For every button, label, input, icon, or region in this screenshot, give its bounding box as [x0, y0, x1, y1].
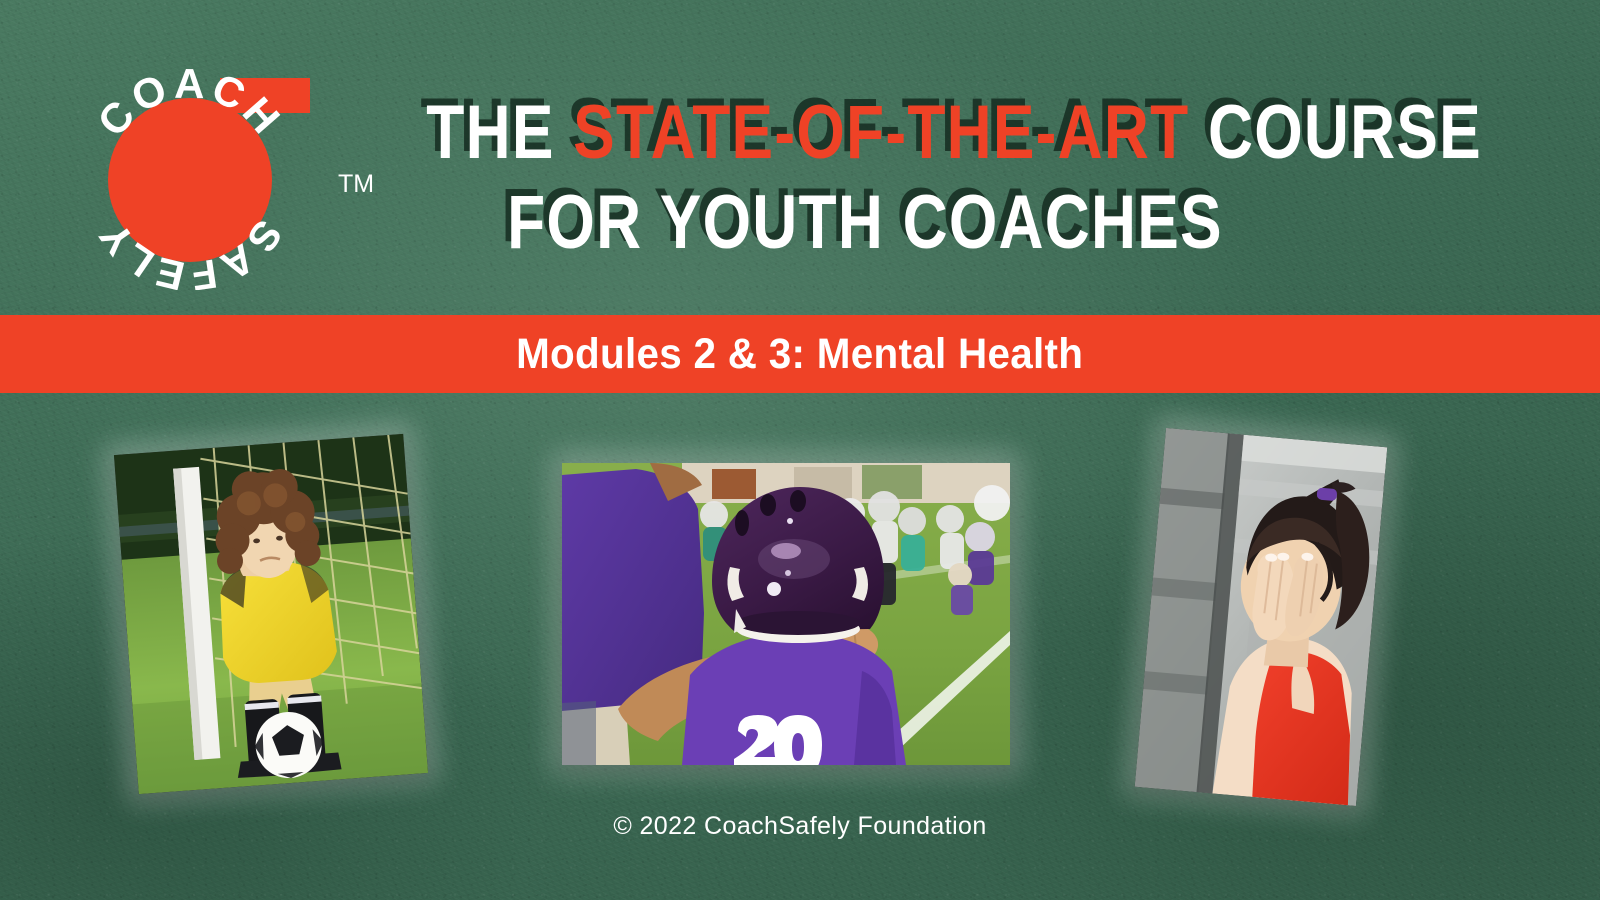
trademark-symbol: TM: [338, 172, 374, 197]
whistle-logo-icon: COACH SAFELY: [70, 60, 370, 290]
copyright-footer: © 2022 CoachSafely Foundation: [0, 812, 1600, 841]
headline-part-course: COURSE: [1189, 90, 1482, 175]
photo-soccer-player-image: [114, 434, 428, 794]
headline-highlight-state-of-the-art: STATE-OF-THE-ART: [573, 90, 1189, 175]
coachsafely-logo: COACH SAFELY TM: [70, 60, 370, 290]
module-banner: Modules 2 & 3: Mental Health: [0, 315, 1600, 393]
photo-soccer-player: [114, 434, 428, 794]
photo-upset-athlete-image: [1135, 428, 1388, 806]
slide-canvas: COACH SAFELY TM THE STATE-OF-THE-ART COU…: [0, 0, 1600, 900]
module-banner-title: Modules 2 & 3: Mental Health: [516, 330, 1083, 379]
photo-upset-athlete: [1135, 428, 1388, 806]
photo-coach-and-player: [562, 463, 1010, 765]
headline-part-the: THE: [426, 90, 573, 175]
photo-coach-and-player-image: [562, 463, 1010, 765]
page-title: THE STATE-OF-THE-ART COURSE FOR YOUTH CO…: [426, 88, 1303, 267]
headline-line-two: FOR YOUTH COACHES: [426, 178, 1303, 268]
